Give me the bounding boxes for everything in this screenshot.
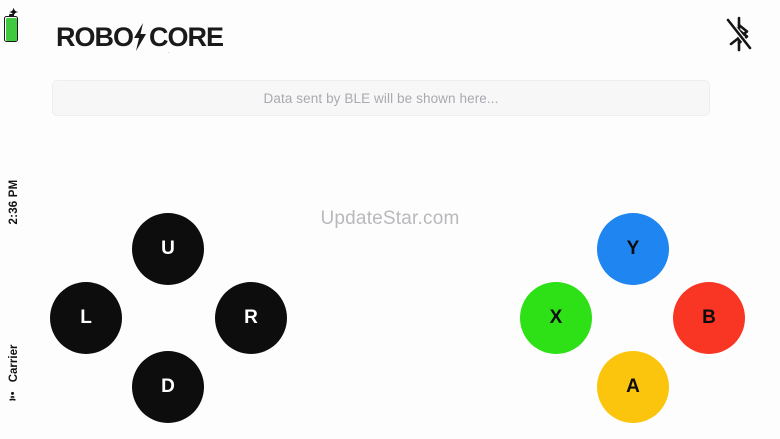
ble-data-readout[interactable]: Data sent by BLE will be shown here... (52, 80, 710, 116)
dpad-button-label: D (161, 376, 175, 398)
action-button-label: Y (627, 238, 640, 260)
dpad-down-button[interactable]: D (132, 351, 204, 423)
app-header: ROBO CORE (0, 0, 780, 68)
status-bar-carrier-label: Carrier (8, 345, 20, 383)
ble-data-placeholder: Data sent by BLE will be shown here... (264, 91, 499, 106)
dpad-button-label: U (161, 238, 175, 260)
action-button-label: X (550, 307, 563, 329)
logo-text-robo: ROBO (56, 22, 133, 53)
action-x-button[interactable]: X (520, 282, 592, 354)
app-root: ✦ 2:36 PM Carrier (0, 0, 780, 439)
wifi-signal-icon (7, 388, 21, 401)
dpad-up-button[interactable]: U (132, 213, 204, 285)
dpad-right-button[interactable]: R (215, 282, 287, 354)
lightning-bolt-icon (133, 23, 149, 51)
bluetooth-disabled-icon[interactable] (722, 14, 756, 54)
action-b-button[interactable]: B (673, 282, 745, 354)
action-button-label: A (626, 376, 640, 398)
robocore-logo: ROBO CORE (56, 22, 246, 54)
status-bar-time: 2:36 PM (8, 170, 20, 234)
dpad-button-label: R (244, 307, 258, 329)
action-a-button[interactable]: A (597, 351, 669, 423)
action-button-label: B (702, 307, 716, 329)
status-bar-carrier-group: Carrier (7, 333, 21, 413)
dpad-left-button[interactable]: L (50, 282, 122, 354)
logo-text-core: CORE (149, 22, 223, 53)
watermark-label: UpdateStar.com (0, 208, 780, 230)
dpad-button-label: L (80, 307, 92, 329)
action-y-button[interactable]: Y (597, 213, 669, 285)
